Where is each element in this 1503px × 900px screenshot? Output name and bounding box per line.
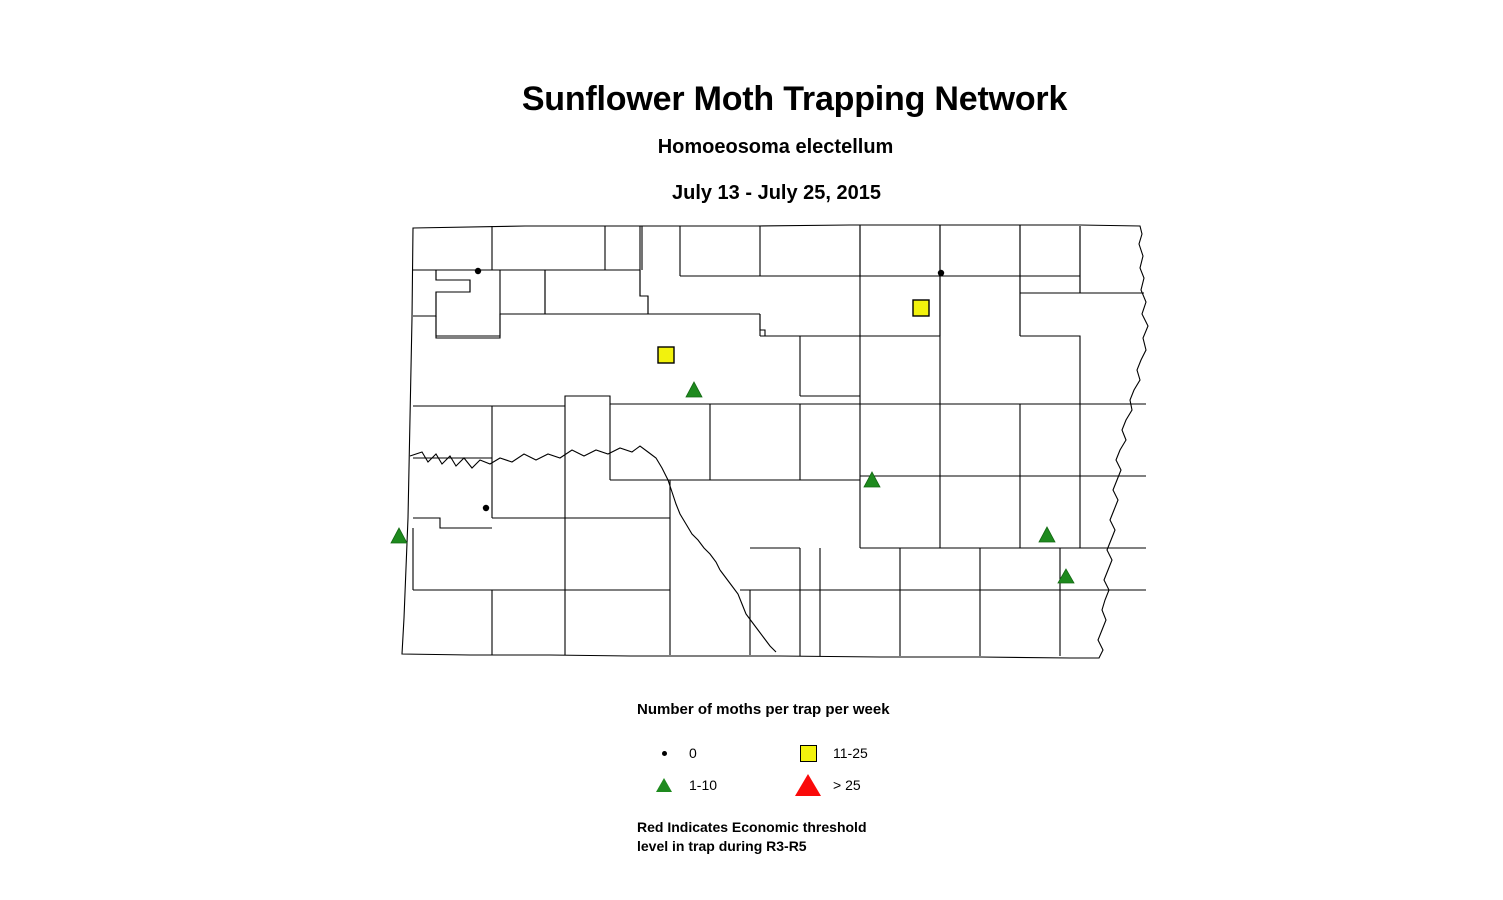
trap-marker-medium (658, 347, 674, 363)
legend-item-label: 11-25 (833, 744, 868, 762)
legend-item-high[interactable]: > 25 (795, 774, 861, 796)
square-icon (795, 745, 821, 762)
legend-items: 0 11-25 1-10 > 25 (637, 742, 1057, 804)
legend-item-zero[interactable]: 0 (651, 742, 697, 764)
legend-item-label: > 25 (833, 776, 861, 794)
trap-marker-zero (475, 268, 481, 274)
legend-item-medium[interactable]: 11-25 (795, 742, 868, 764)
trap-marker-medium (913, 300, 929, 316)
triangle-green-icon (651, 778, 677, 792)
triangle-red-icon (795, 774, 821, 796)
map-svg (380, 218, 1150, 670)
legend-note: Red Indicates Economic threshold level i… (637, 818, 1057, 856)
date-range: July 13 - July 25, 2015 (0, 162, 1503, 208)
legend-item-label: 0 (689, 744, 697, 762)
legend-title: Number of moths per trap per week (637, 700, 1057, 720)
species-subtitle: Homoeosoma electellum (0, 120, 1503, 162)
page-title: Sunflower Moth Trapping Network (0, 78, 1503, 120)
trap-marker-low (391, 528, 407, 543)
legend-item-label: 1-10 (689, 776, 717, 794)
state-outline (402, 225, 1148, 658)
north-dakota-map (380, 218, 1150, 670)
map-legend: Number of moths per trap per week 0 11-2… (637, 700, 1057, 856)
title-block: Sunflower Moth Trapping Network Homoeoso… (0, 78, 1503, 208)
map-counties (391, 225, 1148, 658)
dot-icon (651, 751, 677, 756)
map-page: Sunflower Moth Trapping Network Homoeoso… (0, 0, 1503, 900)
legend-item-low[interactable]: 1-10 (651, 774, 717, 796)
trap-marker-zero (938, 270, 944, 276)
trap-marker-zero (483, 505, 489, 511)
